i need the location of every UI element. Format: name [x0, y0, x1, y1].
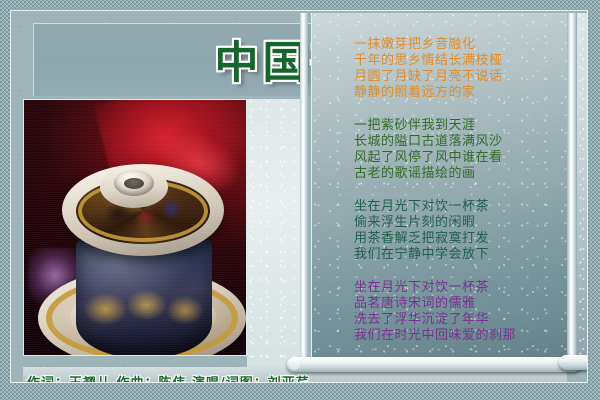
lyrics-stanza: 一把紫砂伴我到天涯 长城的隘口古道落满风沙 风起了风停了风中谁在看 古老的歌谣描… — [354, 118, 570, 182]
lyrics-panel: 一抹嫩芽把乡音融化 千年的思乡情结长满枝桠 月圆了月缺了月亮不说话 静静的照着远… — [311, 13, 570, 369]
page-root: 中国茶 — [0, 0, 600, 400]
lyric-line: 偷来浮生片刻的闲暇 — [354, 215, 570, 231]
vertical-divider-left — [300, 13, 308, 371]
horizontal-scrollbar-handle[interactable] — [289, 359, 300, 370]
lyric-line: 洗去了浮华沉淀了年华 — [354, 312, 570, 328]
horizontal-scrollbar[interactable] — [287, 357, 581, 372]
photo-bowl-gold-pattern — [80, 276, 208, 342]
lyric-line: 长城的隘口古道落满风沙 — [354, 134, 570, 150]
vertical-divider-right — [567, 13, 577, 369]
right-edge-speckle — [577, 13, 588, 369]
middle-panel-speckle — [247, 99, 305, 367]
lyric-line: 风起了风停了风中谁在看 — [354, 150, 570, 166]
lyric-line: 我们在时光中回味爱的刹那 — [354, 328, 570, 344]
lyric-line: 坐在月光下对饮一杯茶 — [354, 280, 570, 296]
photo-lid-knob-hole — [124, 178, 144, 189]
lyrics-stanza: 坐在月光下对饮一杯茶 品茗唐诗宋词的儒雅 洗去了浮华沉淀了年华 我们在时光中回味… — [354, 280, 570, 344]
content-card: 中国茶 — [10, 10, 588, 383]
lyrics-stanza: 坐在月光下对饮一杯茶 偷来浮生片刻的闲暇 用茶香解乏把寂寞打发 我们在宁静中学会… — [354, 199, 570, 263]
lyric-line: 月圆了月缺了月亮不说话 — [354, 69, 570, 85]
tea-gaiwan-photo — [24, 100, 246, 355]
tea-photo-frame — [23, 99, 247, 356]
lyric-line: 用茶香解乏把寂寞打发 — [354, 231, 570, 247]
lyrics-content: 一抹嫩芽把乡音融化 千年的思乡情结长满枝桠 月圆了月缺了月亮不说话 静静的照着远… — [312, 13, 570, 369]
lyric-line: 千年的思乡情结长满枝桠 — [354, 53, 570, 69]
credits-text: 作词：玉翘儿 作曲：陈伟 演唱/词图：刘亚芹 — [27, 372, 310, 383]
lyric-line: 品茗唐诗宋词的儒雅 — [354, 296, 570, 312]
lyric-line: 我们在宁静中学会放下 — [354, 247, 570, 263]
vertical-scrollbar-handle[interactable] — [559, 355, 588, 370]
lyrics-stanza: 一抹嫩芽把乡音融化 千年的思乡情结长满枝桠 月圆了月缺了月亮不说话 静静的照着远… — [354, 37, 570, 101]
lyric-line: 一把紫砂伴我到天涯 — [354, 118, 570, 134]
lyric-line: 静静的照着远方的家 — [354, 85, 570, 101]
middle-accent-panel — [247, 99, 305, 367]
right-edge-panel — [577, 13, 588, 369]
lyric-line: 古老的歌谣描绘的画 — [354, 166, 570, 182]
lyric-line: 一抹嫩芽把乡音融化 — [354, 37, 570, 53]
lyric-line: 坐在月光下对饮一杯茶 — [354, 199, 570, 215]
